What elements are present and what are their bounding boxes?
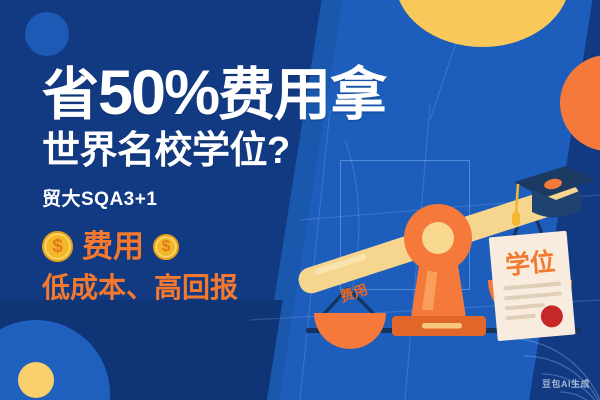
headline-prefix: 省 [42,63,98,127]
copy-block: 省50%费用拿 世界名校学位? 贸大SQA3+1 $ 费用 $ 低成本、高回报 [42,62,462,302]
coin-icon-left: $ [42,231,73,262]
coin-dollar-symbol-left: $ [52,237,63,256]
program-tagline: 贸大SQA3+1 [42,184,462,211]
fee-label: 费用 [82,231,144,262]
ai-watermark: 豆包AI生成 [542,377,590,390]
coin-dollar-symbol-right: $ [162,239,171,255]
degree-certificate: 学位 [489,231,576,341]
fee-row: $ 费用 $ [42,231,462,262]
decor-circle-top-left [25,12,69,56]
coin-icon-right: $ [153,234,179,260]
headline-percent: 50% [98,58,218,128]
certificate-label: 学位 [504,247,556,280]
subheadline: 世界名校学位? [42,132,462,170]
benefit-line: 低成本、高回报 [42,274,462,302]
headline: 省50%费用拿 [42,62,462,125]
promo-poster: 费用 学位 [0,0,600,400]
decor-circle-yellow-bottom-left [18,362,54,398]
headline-suffix: 费用拿 [218,63,386,127]
